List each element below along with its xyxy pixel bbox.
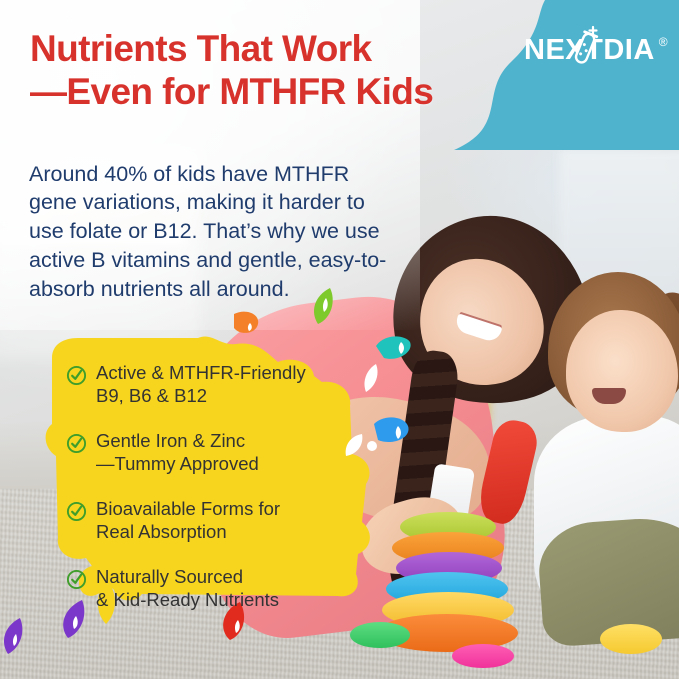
list-item-line-1: Bioavailable Forms for xyxy=(96,498,280,519)
page-title: Nutrients That Work —Even for MTHFR Kids xyxy=(30,28,500,114)
list-item-line-1: Active & MTHFR-Friendly xyxy=(96,362,306,383)
trademark-symbol: ® xyxy=(659,35,668,49)
white-highlight-drop xyxy=(356,362,382,396)
check-circle-icon xyxy=(66,501,87,522)
check-circle-icon xyxy=(66,569,87,590)
droplet-purple xyxy=(0,616,26,656)
list-item: Active & MTHFR-Friendly B9, B6 & B12 xyxy=(66,362,356,408)
droplet-green xyxy=(306,286,336,326)
list-item: Bioavailable Forms for Real Absorption xyxy=(66,498,356,544)
list-item-line-2: —Tummy Approved xyxy=(96,453,259,476)
droplet-orange xyxy=(230,310,262,336)
droplet-blue xyxy=(370,414,412,446)
list-item-line-2: B9, B6 & B12 xyxy=(96,385,306,408)
list-item-line-1: Gentle Iron & Zinc xyxy=(96,430,245,451)
check-circle-icon xyxy=(66,365,87,386)
headline-line-2: —Even for MTHFR Kids xyxy=(30,71,500,114)
loose-ring-yellow xyxy=(600,624,662,654)
list-item-line-2: Real Absorption xyxy=(96,521,280,544)
body-paragraph: Around 40% of kids have MTHFR gene varia… xyxy=(29,160,401,304)
toddler-face xyxy=(566,310,678,432)
headline-line-1: Nutrients That Work xyxy=(30,28,500,71)
brand-logo[interactable]: NEXTDIA ® xyxy=(524,34,668,67)
list-item-line-2: & Kid-Ready Nutrients xyxy=(96,589,279,612)
droplet-teal xyxy=(370,334,414,362)
loose-ring-pink xyxy=(452,644,514,668)
toddler-pants xyxy=(536,514,679,647)
benefits-list: Active & MTHFR-Friendly B9, B6 & B12 Gen… xyxy=(66,362,356,634)
list-item: Naturally Sourced & Kid-Ready Nutrients xyxy=(66,566,356,612)
list-item: Gentle Iron & Zinc —Tummy Approved xyxy=(66,430,356,476)
test-tube-icon xyxy=(571,25,599,74)
marketing-image: NEXTDIA ® Nutrients That Work —Even for … xyxy=(0,0,679,679)
check-circle-icon xyxy=(66,433,87,454)
list-item-line-1: Naturally Sourced xyxy=(96,566,243,587)
